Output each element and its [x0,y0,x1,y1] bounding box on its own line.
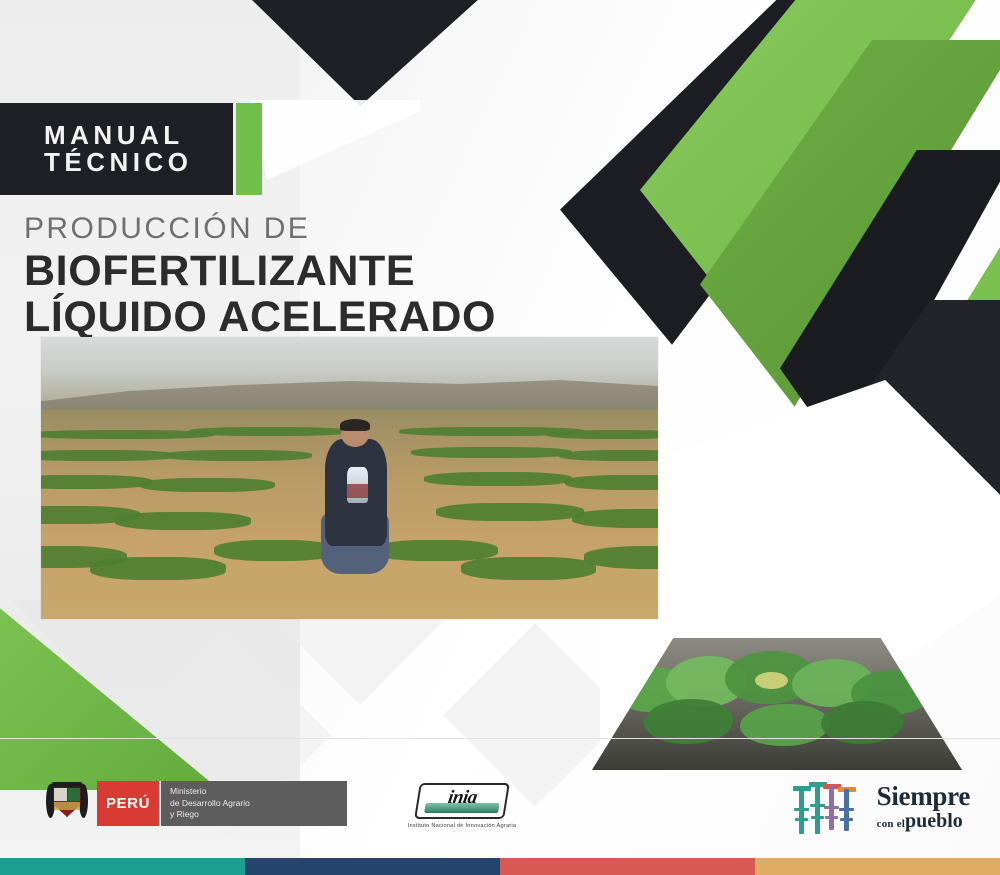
siempre-text-block: Siempre con elpueblo [877,783,970,831]
ministry-line-3: y Riego [170,809,347,821]
siempre-line-2-small: con el [877,818,905,830]
badge-line-2: TÉCNICO [44,149,193,176]
publication-cover: MANUAL TÉCNICO PRODUCCIÓN DE BIOFERTILIZ… [0,0,1000,875]
photo-person-hair [340,419,371,432]
strip-segment-navy [245,858,500,875]
footer-divider [0,738,1000,739]
badge-accent-bar [236,103,262,195]
title-pretitle: PRODUCCIÓN DE [24,212,664,245]
ministry-line-2: de Desarrollo Agrario [170,798,347,810]
siempre-stalks-icon [791,778,867,836]
badge-line-1: MANUAL [44,122,193,149]
logo-inia: inia Instituto Nacional de Innovación Ag… [398,783,526,829]
title-line-1: BIOFERTILIZANTE [24,249,664,295]
strip-segment-red [500,858,755,875]
peru-label-box: PERÚ [97,781,159,826]
logo-midagri: PERÚ Ministerio de Desarrollo Agrario y … [45,781,347,826]
cover-title-block: PRODUCCIÓN DE BIOFERTILIZANTE LÍQUIDO AC… [24,212,664,340]
siempre-line-2: con elpueblo [877,811,970,831]
ministry-label-box: Ministerio de Desarrollo Agrario y Riego [159,781,347,826]
title-line-2: LÍQUIDO ACELERADO [24,295,664,341]
siempre-line-2-bold: pueblo [905,810,963,832]
bottom-color-strip [0,858,1000,875]
photo-biofertilizer-bottle-label [347,484,368,498]
strip-segment-tan [755,858,1000,875]
escudo-nacional-icon [45,781,89,826]
manual-tecnico-text: MANUAL TÉCNICO [0,122,193,175]
logo-siempre-con-el-pueblo: Siempre con elpueblo [791,778,970,836]
main-cover-photo [41,337,658,619]
inia-mark-icon: inia [414,783,510,819]
inia-wave-icon [424,803,500,813]
manual-tecnico-badge: MANUAL TÉCNICO [0,103,233,195]
inia-subtitle: Instituto Nacional de Innovación Agraria [398,823,526,829]
ministry-line-1: Ministerio [170,786,347,798]
strip-segment-teal [0,858,245,875]
siempre-line-1: Siempre [877,783,970,810]
